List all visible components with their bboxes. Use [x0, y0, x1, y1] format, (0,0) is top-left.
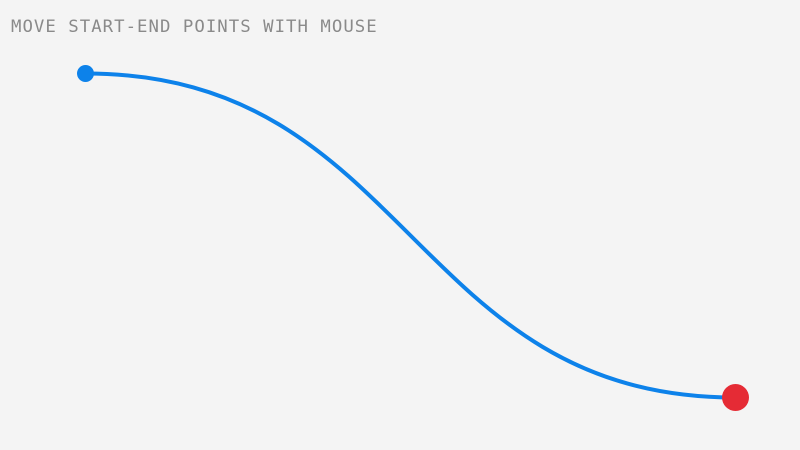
bezier-canvas[interactable]: [0, 0, 800, 450]
page-title: MOVE START-END POINTS WITH MOUSE: [11, 17, 378, 37]
end-point-handle[interactable]: [722, 384, 749, 411]
start-point-handle[interactable]: [77, 65, 94, 82]
bezier-canvas-app: MOVE START-END POINTS WITH MOUSE: [0, 0, 800, 450]
